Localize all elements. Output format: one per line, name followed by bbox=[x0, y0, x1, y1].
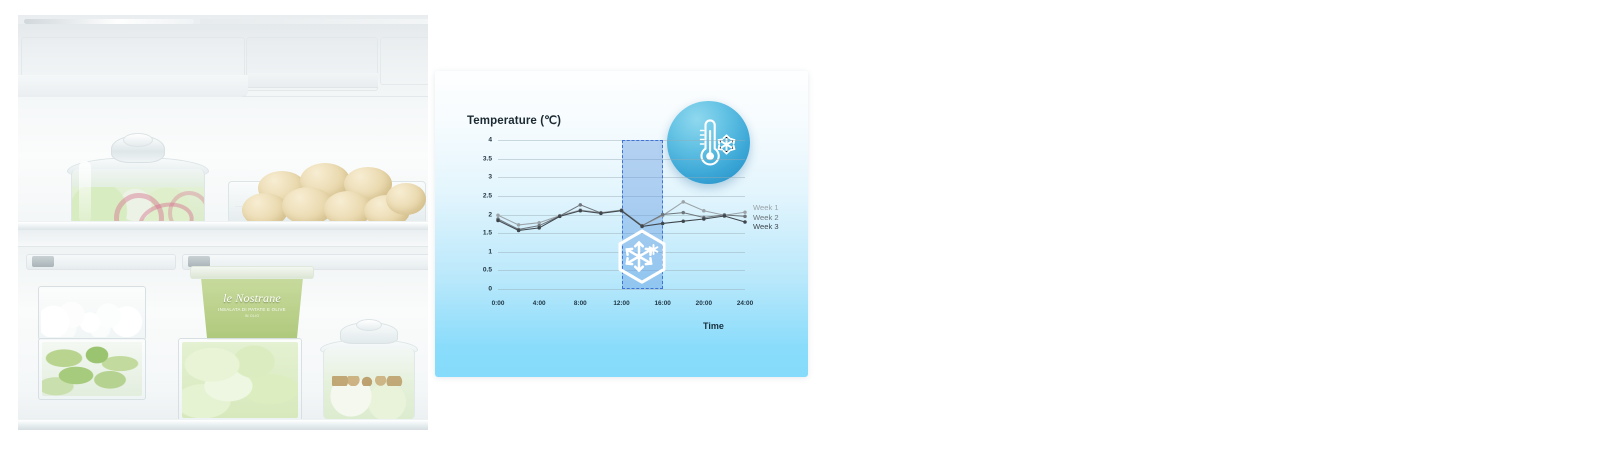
series-data-point bbox=[702, 217, 706, 221]
y-axis-tick-label: 0.5 bbox=[483, 267, 492, 274]
jar-contents bbox=[324, 380, 414, 420]
shelf-rail-tab bbox=[32, 256, 54, 267]
y-axis-tick-label: 1 bbox=[488, 248, 492, 255]
tub-product-text: INSALATA DI PATATE E OLIVE bbox=[197, 307, 307, 312]
series-data-point bbox=[599, 212, 603, 216]
lettuce-container bbox=[178, 338, 302, 422]
temperature-line-series bbox=[498, 140, 745, 289]
tub-brand-label: le Nostrane bbox=[197, 291, 307, 306]
series-data-point bbox=[661, 213, 665, 217]
series-data-point bbox=[620, 209, 624, 213]
series-data-point bbox=[682, 200, 686, 204]
series-data-point bbox=[702, 209, 706, 213]
x-axis-tick-label: 8:00 bbox=[574, 300, 587, 307]
jar-lid-knob bbox=[356, 319, 382, 331]
gridline bbox=[498, 289, 745, 290]
series-data-point bbox=[661, 222, 665, 226]
y-axis-tick-label: 1.5 bbox=[483, 230, 492, 237]
shelf-divider-strip bbox=[18, 230, 428, 247]
series-line bbox=[498, 202, 745, 226]
lower-shelf-glass-jar bbox=[318, 322, 418, 420]
chart-legend: Week 1 Week 2 Week 3 bbox=[753, 203, 779, 232]
tub-product-subtext: IN OLIO bbox=[197, 314, 307, 318]
series-data-point bbox=[517, 229, 521, 233]
y-axis-tick-label: 2 bbox=[488, 211, 492, 218]
y-axis-tick-label: 3.5 bbox=[483, 155, 492, 162]
glass-shelf-lower bbox=[18, 419, 428, 430]
x-axis-tick-label: 24:00 bbox=[737, 300, 753, 307]
le-nostrane-tub: le Nostrane INSALATA DI PATATE E OLIVE I… bbox=[196, 272, 308, 340]
x-axis-tick-label: 4:00 bbox=[533, 300, 546, 307]
legend-item-week-1: Week 1 bbox=[753, 203, 779, 213]
refrigerator-interior-photo: le Nostrane INSALATA DI PATATE E OLIVE I… bbox=[18, 15, 428, 430]
series-data-point bbox=[743, 220, 747, 224]
x-axis-tick-label: 20:00 bbox=[696, 300, 712, 307]
y-axis-tick-label: 0 bbox=[488, 286, 492, 293]
lettuce-leaves bbox=[182, 342, 298, 418]
chart-title: Temperature (℃) bbox=[467, 113, 561, 127]
x-axis-tick-label: 12:00 bbox=[613, 300, 629, 307]
herb-container bbox=[38, 338, 146, 400]
jar-highlight bbox=[79, 161, 91, 223]
series-data-point bbox=[723, 214, 727, 218]
series-data-point bbox=[743, 211, 747, 215]
series-data-point bbox=[558, 215, 562, 219]
hood-lip-right bbox=[248, 73, 378, 88]
chart-plot-area: 43.532.521.510.50 0:004:008:0012:0016:00… bbox=[498, 140, 745, 289]
series-data-point bbox=[537, 221, 541, 225]
lower-shelf-compartment: le Nostrane INSALATA DI PATATE E OLIVE I… bbox=[18, 230, 428, 430]
jar-lid-knob bbox=[123, 133, 153, 147]
tub-lid bbox=[190, 266, 314, 279]
series-data-point bbox=[496, 214, 500, 218]
jar-spices bbox=[332, 376, 408, 386]
eggs bbox=[41, 299, 143, 337]
series-data-point bbox=[537, 226, 541, 230]
temperature-chart-card: Temperature (℃) bbox=[435, 71, 808, 377]
screenshot-canvas: le Nostrane INSALATA DI PATATE E OLIVE I… bbox=[0, 0, 1600, 458]
y-axis-tick-label: 2.5 bbox=[483, 192, 492, 199]
glass-jar-pickled-vegetables bbox=[63, 135, 211, 227]
series-data-point bbox=[743, 215, 747, 219]
series-data-point bbox=[682, 211, 686, 215]
y-axis-tick-label: 4 bbox=[488, 137, 492, 144]
egg-container bbox=[38, 286, 146, 340]
legend-item-week-2: Week 2 bbox=[753, 213, 779, 223]
x-axis-label: Time bbox=[703, 321, 724, 331]
series-data-point bbox=[640, 225, 644, 229]
x-axis-tick-label: 0:00 bbox=[492, 300, 505, 307]
bread-roll bbox=[386, 183, 426, 215]
series-data-point bbox=[517, 223, 521, 227]
hood-panel-right bbox=[380, 37, 428, 85]
fresh-herbs bbox=[42, 342, 142, 396]
series-data-point bbox=[579, 209, 583, 213]
legend-item-week-3: Week 3 bbox=[753, 222, 779, 232]
series-data-point bbox=[496, 219, 500, 223]
jar-body bbox=[71, 169, 205, 227]
x-axis-tick-label: 16:00 bbox=[654, 300, 670, 307]
series-line bbox=[498, 211, 745, 231]
hood-lip-left bbox=[18, 75, 248, 98]
series-data-point bbox=[579, 203, 583, 207]
jar-body bbox=[323, 348, 415, 420]
series-data-point bbox=[682, 219, 686, 223]
y-axis-tick-label: 3 bbox=[488, 174, 492, 181]
upper-shelf-compartment bbox=[18, 15, 428, 227]
